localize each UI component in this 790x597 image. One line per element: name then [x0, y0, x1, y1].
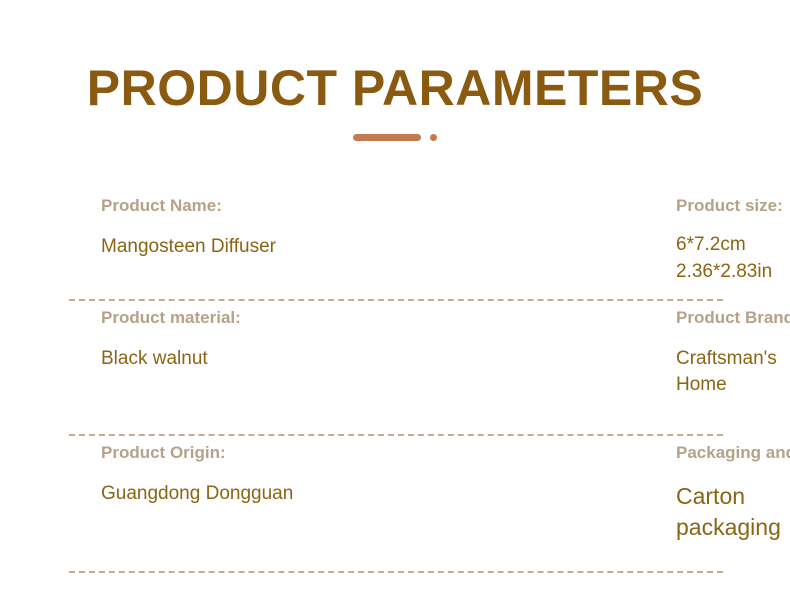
product-parameters-page: PRODUCT PARAMETERS Product Name: Mangost…	[0, 0, 790, 597]
spec-cell-product-size: Product size: 6*7.2cm 2.36*2.83in	[237, 196, 689, 308]
row-divider	[69, 434, 723, 436]
header: PRODUCT PARAMETERS	[0, 62, 790, 115]
specifications-table: Product Name: Mangosteen Diffuser Produc…	[0, 196, 790, 580]
spec-label: Product Brand:	[676, 308, 689, 328]
spec-row: Product material: Black walnut Product B…	[0, 308, 790, 443]
spec-value: Carton packaging	[676, 481, 689, 543]
spec-label: Packaging and Transportation:	[676, 443, 689, 463]
row-divider	[69, 571, 723, 573]
spec-label: Product size:	[676, 196, 689, 216]
spec-row: Product Origin: Guangdong Dongguan Packa…	[0, 443, 790, 580]
ornament-bar-icon	[353, 134, 421, 141]
page-title: PRODUCT PARAMETERS	[0, 62, 790, 115]
title-divider-ornament	[0, 131, 790, 143]
row-divider	[69, 299, 723, 301]
spec-value: Craftsman's Home	[676, 346, 689, 397]
ornament-dot-icon	[430, 134, 437, 141]
spec-row: Product Name: Mangosteen Diffuser Produc…	[0, 196, 790, 308]
spec-value: 6*7.2cm 2.36*2.83in	[676, 232, 689, 285]
spec-cell-packaging-transportation: Packaging and Transportation: Carton pac…	[237, 443, 689, 580]
spec-cell-product-brand: Product Brand: Craftsman's Home	[237, 308, 689, 443]
